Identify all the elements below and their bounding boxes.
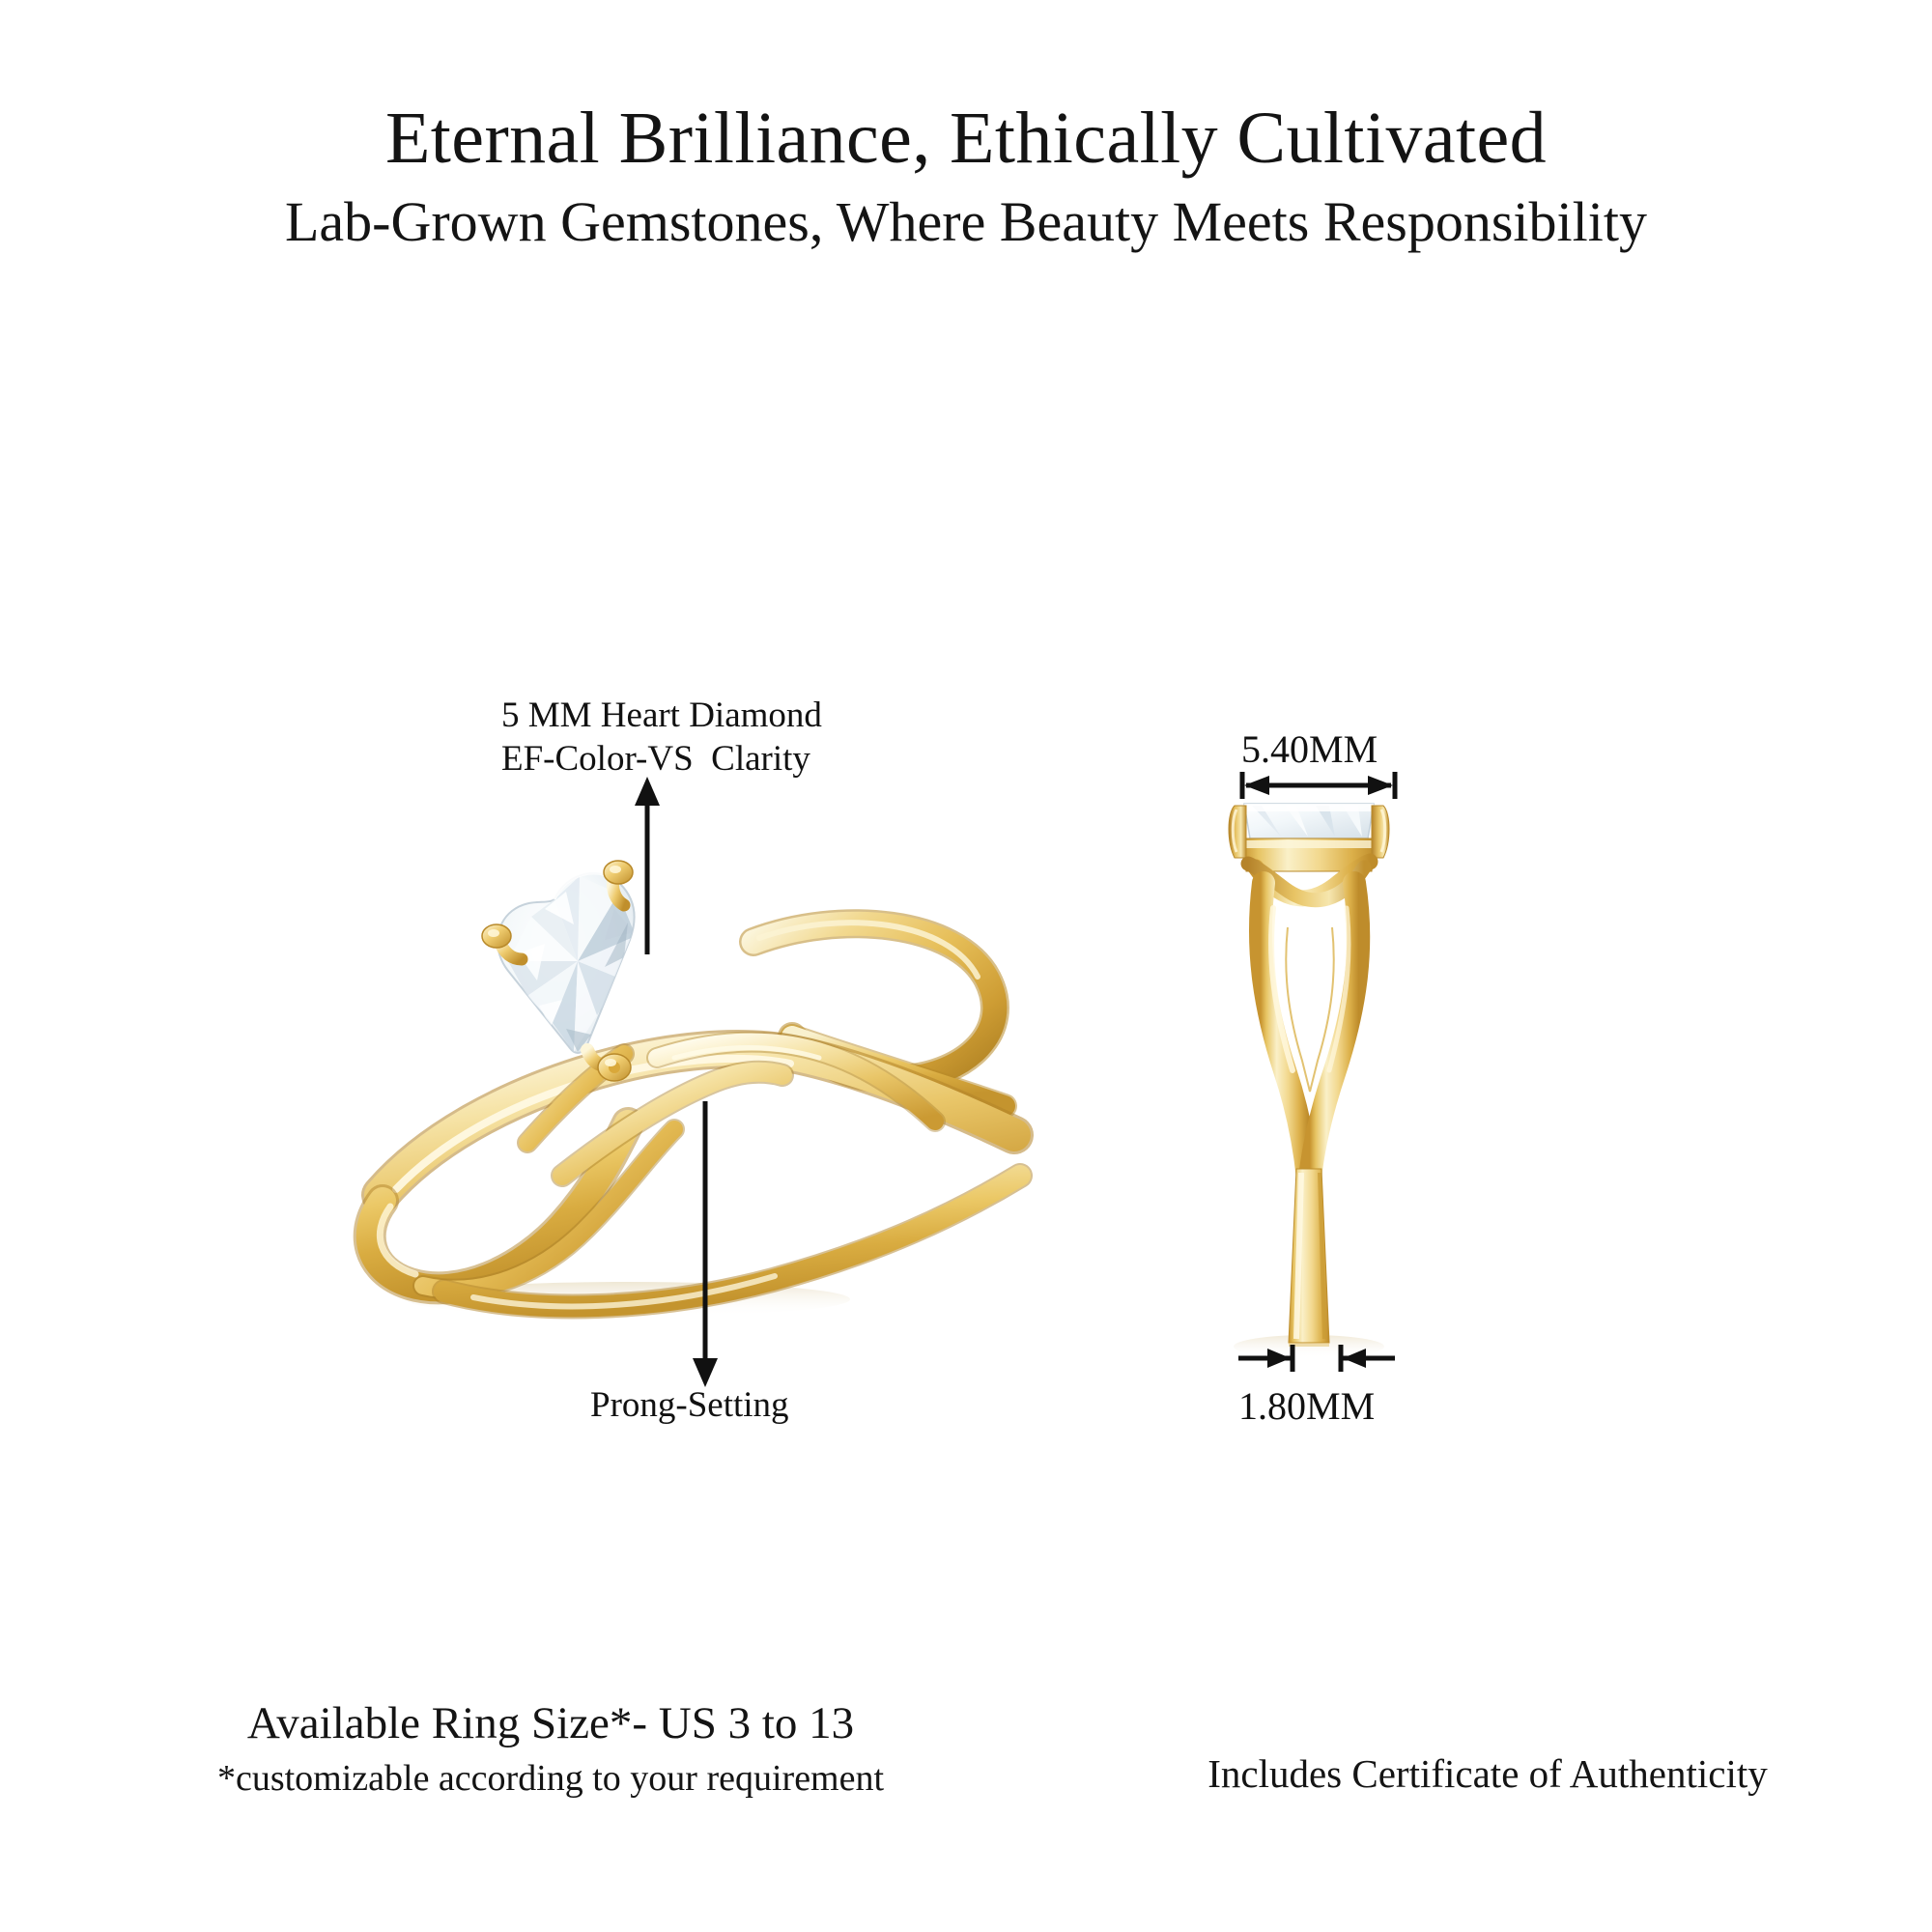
prong-setting-label: Prong-Setting bbox=[590, 1383, 789, 1427]
bottom-width-dimension-arrow bbox=[1225, 1341, 1408, 1376]
prong-leader-arrow bbox=[667, 1101, 744, 1391]
page-subtitle: Lab-Grown Gemstones, Where Beauty Meets … bbox=[0, 193, 1932, 252]
footer-left: Available Ring Size*- US 3 to 13 *custom… bbox=[155, 1697, 947, 1800]
certificate-note-text: Includes Certificate of Authenticity bbox=[1150, 1750, 1826, 1797]
top-width-dimension-arrow bbox=[1236, 768, 1401, 803]
ring-size-text: Available Ring Size*- US 3 to 13 bbox=[155, 1697, 947, 1749]
top-width-dimension-label: 5.40MM bbox=[1241, 726, 1378, 772]
gem-spec-label: 5 MM Heart Diamond EF-Color-VS Clarity bbox=[501, 694, 822, 781]
header: Eternal Brilliance, Ethically Cultivated… bbox=[0, 100, 1932, 252]
page-title: Eternal Brilliance, Ethically Cultivated bbox=[0, 100, 1932, 178]
ring-side-view-image bbox=[1188, 763, 1430, 1377]
heart-diamond-gem-side bbox=[1244, 804, 1374, 838]
gem-leader-arrow bbox=[609, 773, 686, 956]
product-infographic-page: Eternal Brilliance, Ethically Cultivated… bbox=[0, 0, 1932, 1932]
bottom-width-dimension-label: 1.80MM bbox=[1238, 1383, 1375, 1429]
customizable-note-text: *customizable according to your requirem… bbox=[155, 1757, 947, 1800]
